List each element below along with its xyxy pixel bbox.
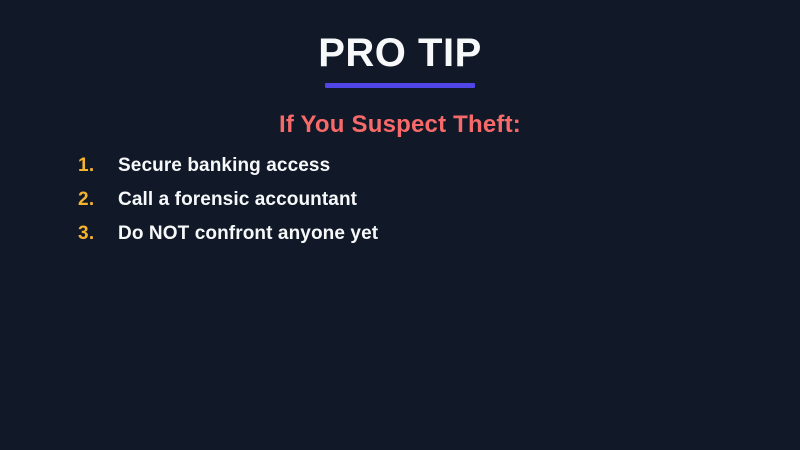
list-item: 1. Secure banking access (78, 155, 698, 189)
list-item: 2. Call a forensic accountant (78, 189, 698, 223)
list-item-label: Call a forensic accountant (118, 189, 357, 211)
tip-list: 1. Secure banking access 2. Call a foren… (78, 155, 698, 257)
page-title: PRO TIP (318, 30, 482, 76)
title-block: PRO TIP (0, 30, 800, 88)
list-item-label: Secure banking access (118, 155, 330, 177)
subtitle: If You Suspect Theft: (0, 110, 800, 140)
list-item-number: 3. (78, 223, 118, 245)
list-item-label: Do NOT confront anyone yet (118, 223, 378, 245)
title-underline-rule (325, 83, 475, 88)
slide-canvas: PRO TIP If You Suspect Theft: 1. Secure … (0, 0, 800, 450)
list-item: 3. Do NOT confront anyone yet (78, 223, 698, 257)
list-item-number: 1. (78, 155, 118, 177)
list-item-number: 2. (78, 189, 118, 211)
